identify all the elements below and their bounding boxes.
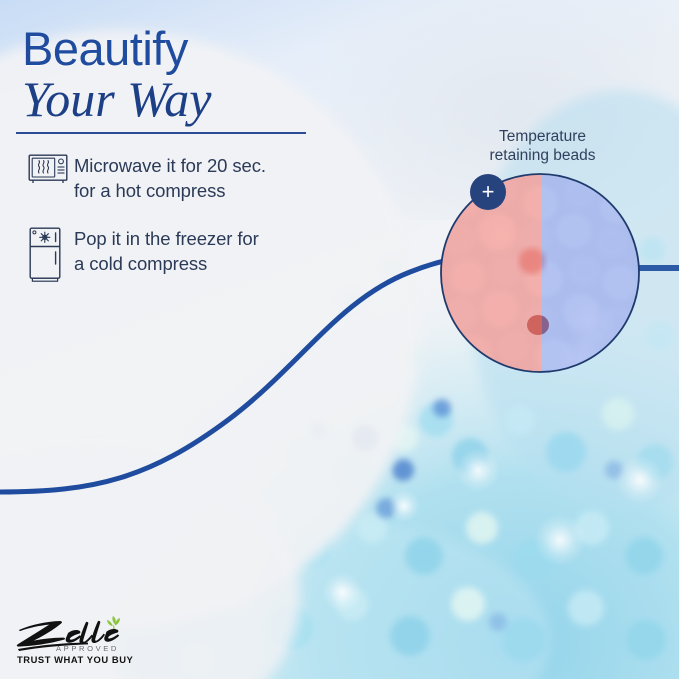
callout-label-line1: Temperature	[445, 127, 640, 146]
microwave-icon	[28, 152, 74, 184]
freezer-icon	[28, 225, 74, 283]
feature-text-freezer: Pop it in the freezer for a cold compres…	[74, 225, 259, 276]
feature-text-microwave-line2: for a hot compress	[74, 178, 266, 203]
feature-item-freezer: Pop it in the freezer for a cold compres…	[28, 225, 348, 283]
feature-item-microwave: Microwave it for 20 sec. for a hot compr…	[28, 152, 348, 203]
feature-text-freezer-line1: Pop it in the freezer for	[74, 226, 259, 251]
title-line-2: Your Way	[22, 72, 352, 126]
callout-label-line2: retaining beads	[445, 146, 640, 165]
feature-text-microwave-line1: Microwave it for 20 sec.	[74, 153, 266, 178]
product-infographic: Beautify Your Way	[0, 0, 679, 679]
callout-label: Temperature retaining beads	[445, 127, 640, 165]
expand-plus-badge[interactable]: +	[470, 174, 506, 210]
title-divider	[16, 132, 306, 134]
page-title: Beautify Your Way	[22, 24, 352, 126]
feature-text-microwave: Microwave it for 20 sec. for a hot compr…	[74, 152, 266, 203]
brand-tagline: TRUST WHAT YOU BUY	[16, 654, 151, 665]
callout-magnifier-circle	[440, 173, 640, 373]
approved-text: APPROVED	[56, 644, 119, 653]
title-line-1: Beautify	[22, 24, 352, 74]
brand-logo: APPROVED TRUST WHAT YOU BUY	[16, 613, 151, 665]
zabba-wordmark: APPROVED	[16, 613, 134, 653]
feature-list: Microwave it for 20 sec. for a hot compr…	[28, 152, 348, 305]
feature-text-freezer-line2: a cold compress	[74, 251, 259, 276]
